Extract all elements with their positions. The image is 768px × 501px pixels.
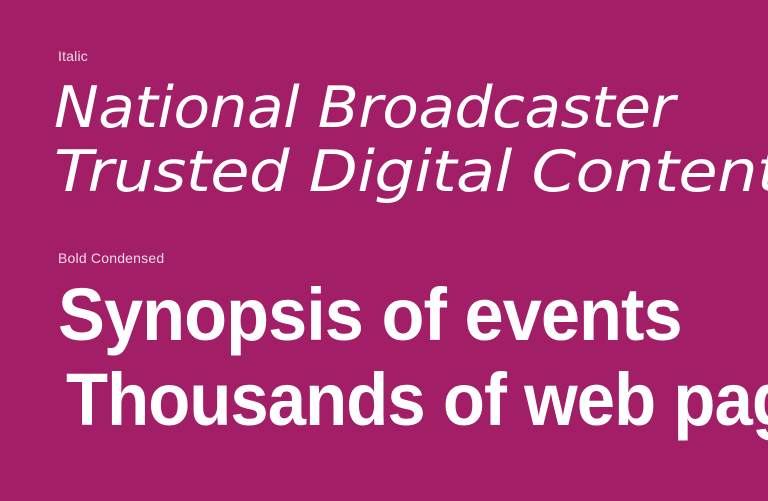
italic-sample-line-2: Trusted Digital Content [54, 140, 768, 204]
italic-sample-line-1: National Broadcaster [54, 76, 768, 140]
bold-condensed-sample-line-1: Synopsis of events [58, 272, 723, 357]
style-label-italic: Italic [58, 49, 88, 63]
bold-condensed-sample-line-2: Thousands of web pages [66, 357, 710, 442]
bold-condensed-sample-block: Synopsis of events Thousands of web page… [58, 272, 758, 442]
style-label-bold-condensed: Bold Condensed [58, 251, 164, 265]
font-specimen-poster: Italic National Broadcaster Trusted Digi… [0, 0, 768, 501]
italic-sample-block: National Broadcaster Trusted Digital Con… [54, 76, 754, 204]
